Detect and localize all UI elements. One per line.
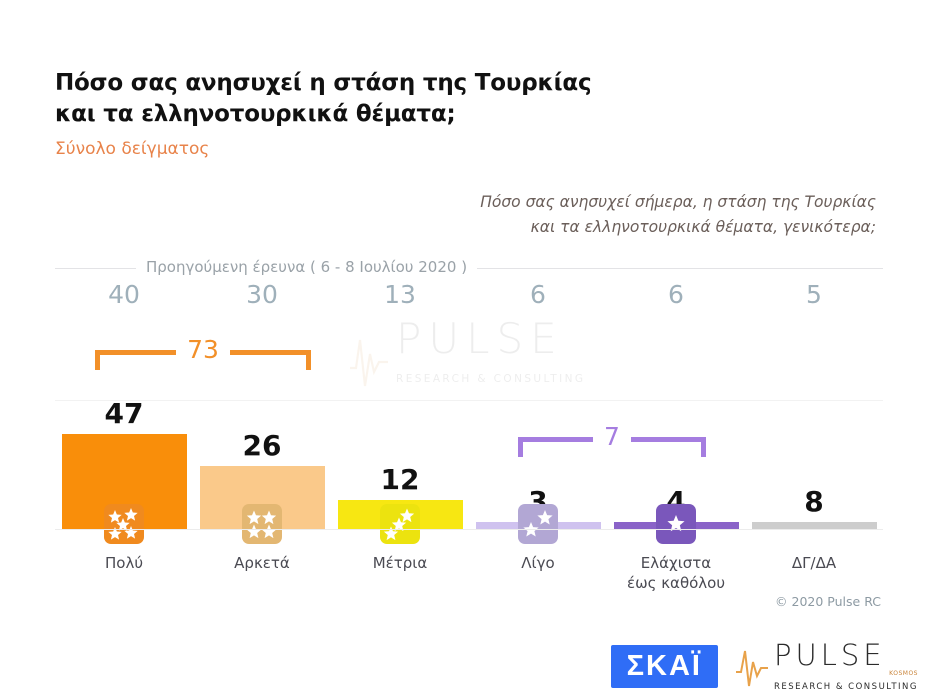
pulse-logo-name: PULSE <box>774 641 918 670</box>
bar-column-dg-da[interactable]: 8 <box>745 400 883 530</box>
previous-survey-values: 40 30 13 6 6 5 <box>55 280 883 309</box>
previous-value: 30 <box>193 280 331 309</box>
previous-value: 6 <box>469 280 607 309</box>
pulse-watermark: PULSE RESEARCH & CONSULTING <box>352 318 602 398</box>
bar-column-poly[interactable]: 47 <box>55 400 193 530</box>
pulse-wave-icon <box>346 324 392 394</box>
annotation-bracket-73: 73 <box>95 341 311 363</box>
previous-survey-label: Προηγούμενη έρευνα ( 6 - 8 Ιουλίου 2020 … <box>136 258 477 276</box>
category-text: Αρκετά <box>193 553 331 573</box>
rating-badge-4-stars <box>242 504 282 544</box>
category-label-dg-da: ΔΓ/ΔΑ <box>745 553 883 594</box>
poll-chart-canvas: Πόσο σας ανησυχεί η στάση της Τουρκίας κ… <box>0 0 938 700</box>
pulse-logo: PULSE KOSMOS RESEARCH & CONSULTING <box>734 640 918 692</box>
bar-columns: 47 26 12 3 4 <box>55 400 883 530</box>
survey-question: Πόσο σας ανησυχεί σήμερα, η στάση της Το… <box>406 190 876 240</box>
category-labels: Πολύ Αρκετά Μέτρια Λίγο Ελάχιστα έως καθ… <box>55 553 883 594</box>
pulse-wave-icon <box>734 640 770 692</box>
category-label-arketa: Αρκετά <box>193 553 331 594</box>
chart-baseline <box>55 529 883 530</box>
pulse-logo-words: PULSE KOSMOS RESEARCH & CONSULTING <box>774 641 918 692</box>
bar-value: 26 <box>243 432 282 460</box>
question-line-1: Πόσο σας ανησυχεί σήμερα, η στάση της Το… <box>406 190 876 215</box>
category-text: ΔΓ/ΔΑ <box>745 553 883 573</box>
category-text: Πολύ <box>55 553 193 573</box>
bracket-arm-right <box>230 350 311 355</box>
category-label-elaxista: Ελάχιστα έως καθόλου <box>607 553 745 594</box>
title-line-2: και τα ελληνοτουρκικά θέματα; <box>55 99 675 130</box>
page-title: Πόσο σας ανησυχεί η στάση της Τουρκίας κ… <box>55 68 675 129</box>
bar-chart: 47 26 12 3 4 <box>55 400 883 530</box>
skai-logo: ΣΚΑΪ <box>611 645 718 688</box>
bar-column-ligo[interactable]: 3 <box>469 400 607 530</box>
watermark-tagline: RESEARCH & CONSULTING <box>396 373 602 385</box>
previous-value: 40 <box>55 280 193 309</box>
skai-logo-text: ΣΚΑΪ <box>627 652 702 681</box>
category-text: Μέτρια <box>331 553 469 573</box>
watermark-name: PULSE <box>396 318 602 360</box>
pulse-logo-kosmos: KOSMOS <box>774 670 918 677</box>
bracket-arm-left <box>95 350 176 355</box>
category-label-metria: Μέτρια <box>331 553 469 594</box>
rating-badge-1-star <box>656 504 696 544</box>
category-text: έως καθόλου <box>607 573 745 593</box>
category-text: Λίγο <box>469 553 607 573</box>
footer-logos: ΣΚΑΪ PULSE KOSMOS RESEARCH & CONSULTING <box>611 640 918 692</box>
previous-value: 13 <box>331 280 469 309</box>
question-line-2: και τα ελληνοτουρκικά θέματα, γενικότερα… <box>406 215 876 240</box>
bar-column-elaxista[interactable]: 4 <box>607 400 745 530</box>
rating-badge-3-stars <box>380 504 420 544</box>
category-label-ligo: Λίγο <box>469 553 607 594</box>
bracket-value: 73 <box>176 337 230 362</box>
copyright-text: © 2020 Pulse RC <box>775 594 881 609</box>
subtitle: Σύνολο δείγματος <box>55 139 209 159</box>
previous-value: 6 <box>607 280 745 309</box>
bar-column-metria[interactable]: 12 <box>331 400 469 530</box>
pulse-logo-tagline: RESEARCH & CONSULTING <box>774 682 918 692</box>
bar-value: 47 <box>105 400 144 428</box>
previous-value: 5 <box>745 280 883 309</box>
bar-value: 12 <box>381 466 420 494</box>
rating-badge-5-stars <box>104 504 144 544</box>
category-label-poly: Πολύ <box>55 553 193 594</box>
bar-column-arketa[interactable]: 26 <box>193 400 331 530</box>
bar-value: 8 <box>804 488 823 516</box>
category-text: Ελάχιστα <box>607 553 745 573</box>
rating-badge-2-stars <box>518 504 558 544</box>
title-line-1: Πόσο σας ανησυχεί η στάση της Τουρκίας <box>55 68 675 99</box>
